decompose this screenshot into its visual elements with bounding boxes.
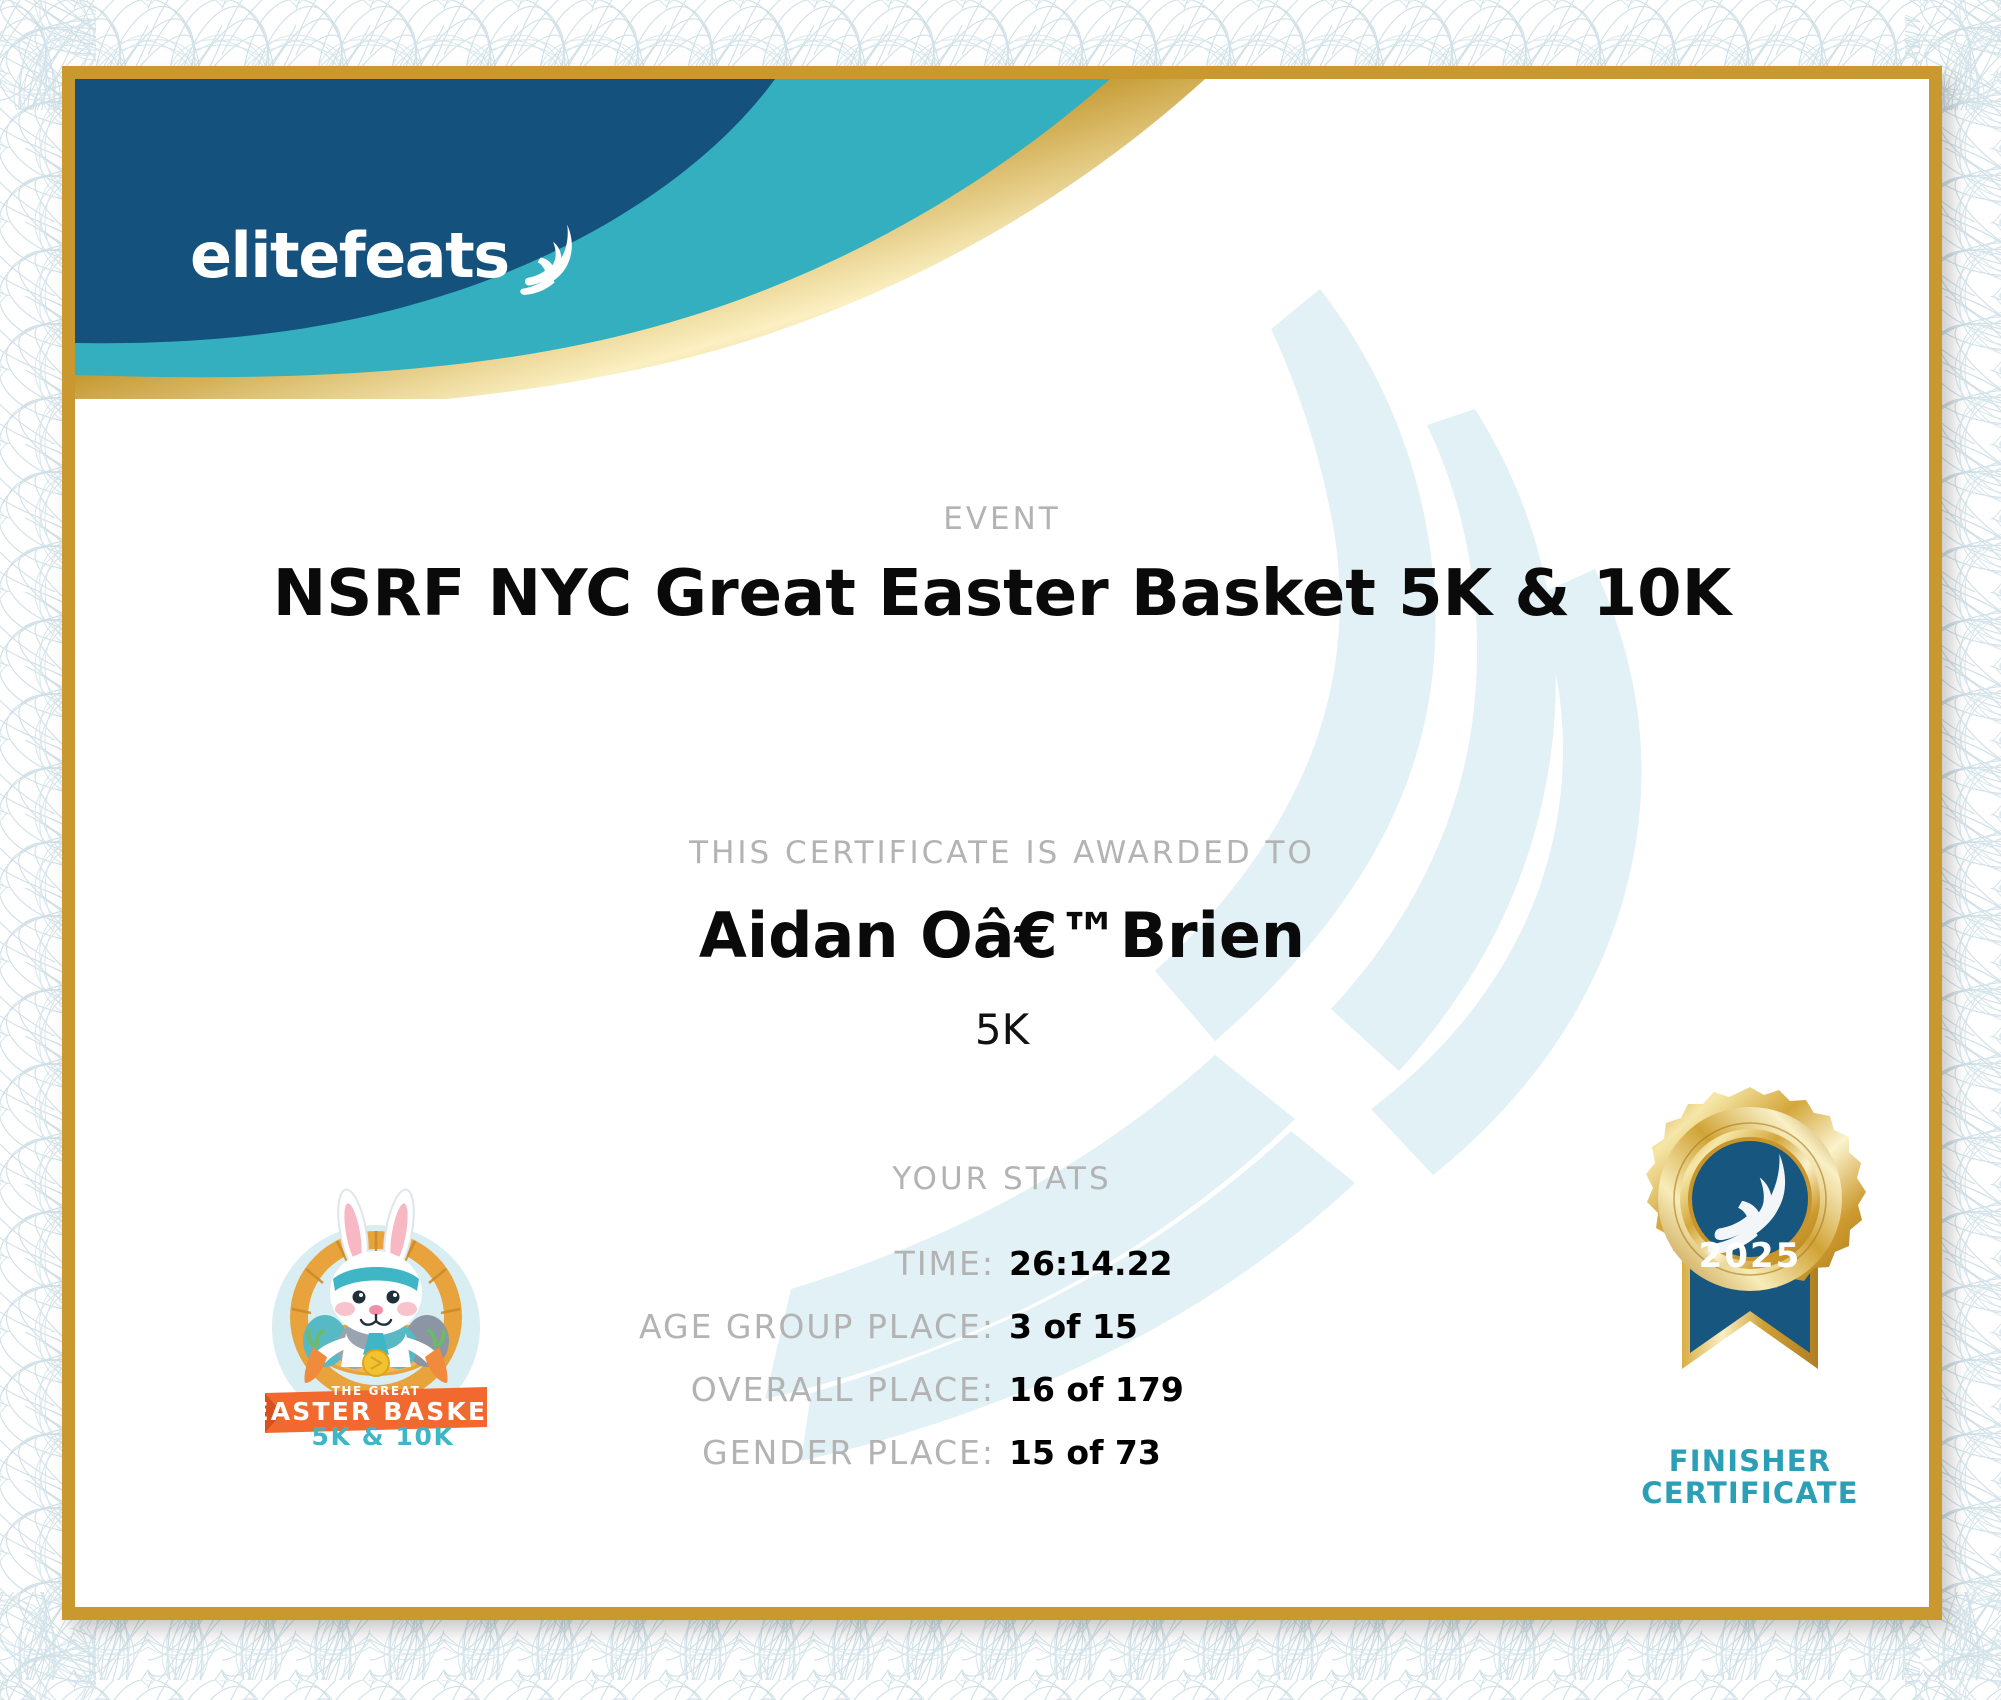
recipient-name: Aidan Oâ€™Brien <box>75 899 1929 972</box>
event-title: NSRF NYC Great Easter Basket 5K & 10K <box>75 557 1929 631</box>
event-art-top-text: THE GREAT <box>332 1384 421 1398</box>
finisher-certificate-caption: FINISHER CERTIFICATE <box>1600 1445 1900 1510</box>
stat-key: AGE GROUP PLACE: <box>435 1307 995 1346</box>
finisher-caption-line1: FINISHER <box>1600 1445 1900 1477</box>
awarded-to-label: THIS CERTIFICATE IS AWARDED TO <box>75 835 1929 871</box>
finisher-caption-line2: CERTIFICATE <box>1600 1477 1900 1509</box>
easter-bunny-basket-logo: THE GREAT EASTER BASKET 5K & 10K <box>251 1157 501 1447</box>
event-label: EVENT <box>75 501 1929 537</box>
stat-value: 15 of 73 <box>1009 1433 1569 1472</box>
event-art-distances-text: 5K & 10K <box>312 1422 455 1447</box>
stat-value: 3 of 15 <box>1009 1307 1569 1346</box>
certificate-card: elitefeats EVENT NSRF NYC Great Easter B… <box>62 66 1942 1620</box>
stat-key: GENDER PLACE: <box>435 1433 995 1472</box>
finisher-medal-block: 2025 FINISHER CERTIFICATE <box>1600 1079 1900 1510</box>
stat-value: 16 of 179 <box>1009 1370 1569 1409</box>
medal-year: 2025 <box>1699 1236 1802 1276</box>
stat-value: 26:14.22 <box>1009 1244 1569 1283</box>
finisher-medal-ribbon-icon: 2025 <box>1600 1079 1900 1439</box>
certificate-page: elitefeats EVENT NSRF NYC Great Easter B… <box>0 0 2001 1700</box>
race-distance: 5K <box>75 1005 1929 1054</box>
stat-key: OVERALL PLACE: <box>435 1370 995 1409</box>
stat-key: TIME: <box>435 1244 995 1283</box>
